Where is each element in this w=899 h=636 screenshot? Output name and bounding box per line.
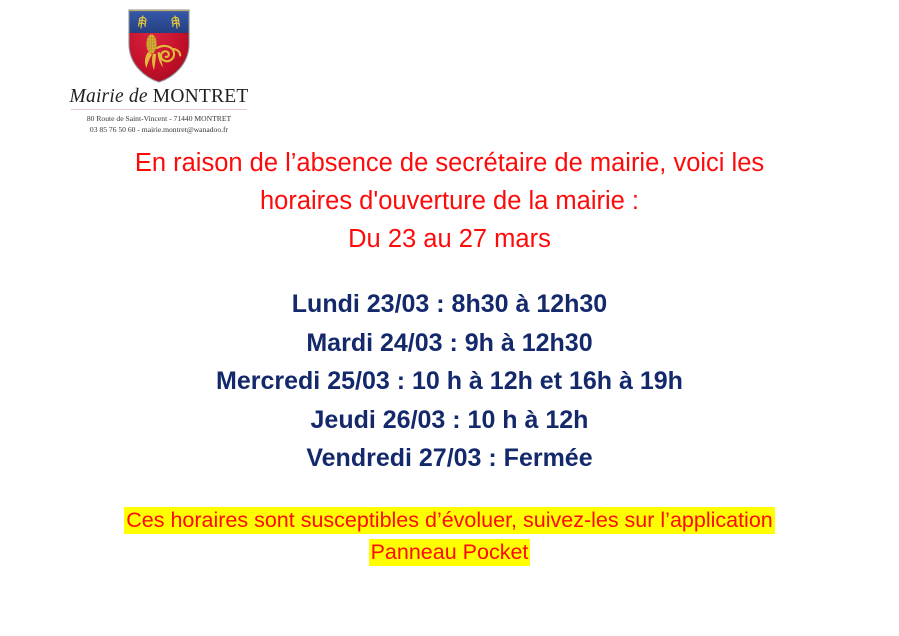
footer-note-line-1: Ces horaires sont susceptibles d’évoluer… — [0, 504, 899, 536]
footer-note-line-2: Panneau Pocket — [0, 536, 899, 568]
schedule-row-mercredi: Mercredi 25/03 : 10 h à 12h et 16h à 19h — [0, 362, 899, 401]
intro-line-2: horaires d'ouverture de la mairie : — [0, 182, 899, 220]
schedule-row-mardi: Mardi 24/03 : 9h à 12h30 — [0, 324, 899, 363]
organization-address: 80 Route de Saint-Vincent - 71440 MONTRE… — [68, 113, 250, 135]
footer-note: Ces horaires sont susceptibles d’évoluer… — [0, 504, 899, 568]
schedule-row-jeudi: Jeudi 26/03 : 10 h à 12h — [0, 401, 899, 440]
letterhead: Mairie de MONTRET 80 Route de Saint-Vinc… — [68, 8, 250, 135]
intro-line-1: En raison de l’absence de secrétaire de … — [0, 144, 899, 182]
crest-maize-ear — [147, 35, 157, 54]
opening-hours-list: Lundi 23/03 : 8h30 à 12h30 Mardi 24/03 :… — [0, 285, 899, 478]
organization-name-town: MONTRET — [153, 86, 249, 107]
schedule-row-lundi: Lundi 23/03 : 8h30 à 12h30 — [0, 285, 899, 324]
intro-paragraph: En raison de l’absence de secrétaire de … — [0, 144, 899, 258]
footer-highlight-1: Ces horaires sont susceptibles d’évoluer… — [124, 507, 775, 534]
organization-name: Mairie de MONTRET — [68, 87, 250, 107]
footer-highlight-2: Panneau Pocket — [369, 539, 531, 566]
address-line-street: 80 Route de Saint-Vincent - 71440 MONTRE… — [68, 113, 250, 124]
organization-name-prefix: Mairie de — [70, 86, 153, 107]
address-line-contact: 03 85 76 50 60 - mairie.montret@wanadoo.… — [68, 124, 250, 135]
montret-coat-of-arms-icon — [126, 8, 192, 84]
poster-page: { "letterhead": { "crest_icon": "montret… — [0, 0, 899, 636]
letterhead-divider — [71, 109, 247, 110]
schedule-row-vendredi: Vendredi 27/03 : Fermée — [0, 439, 899, 478]
intro-line-3: Du 23 au 27 mars — [0, 220, 899, 258]
